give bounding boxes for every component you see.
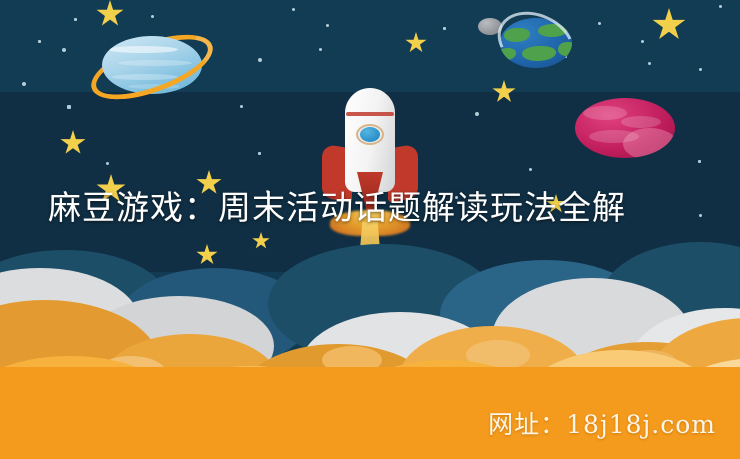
- star-dot: [151, 15, 154, 18]
- star-dot: [292, 8, 295, 11]
- star-dot: [67, 105, 71, 109]
- star-dot: [258, 58, 262, 62]
- star-dot: [641, 40, 644, 43]
- star-dot: [326, 24, 329, 27]
- star-dot: [74, 18, 77, 21]
- star-dot: [22, 82, 26, 86]
- star-dot: [698, 160, 701, 163]
- saturn-planet: [88, 32, 216, 98]
- rocket-stripe: [346, 112, 394, 116]
- star-dot: [62, 48, 66, 52]
- star-dot: [319, 48, 322, 51]
- rocket-porthole-glass: [360, 127, 380, 142]
- magenta-highlight: [623, 128, 675, 158]
- star-dot: [443, 27, 446, 30]
- star-dot: [240, 105, 243, 108]
- star-dot: [648, 62, 651, 65]
- cover-image-canvas: 麻豆游戏：周末活动话题解读玩法全解 网址：18j18j.com: [0, 0, 740, 459]
- star-dot: [529, 168, 532, 171]
- star-dot: [475, 112, 479, 116]
- earth-planet: [500, 18, 572, 68]
- star-dot: [106, 162, 109, 165]
- star-dot: [258, 152, 261, 155]
- site-watermark: 网址：18j18j.com: [488, 405, 716, 441]
- star-dot: [598, 22, 601, 25]
- star-dot: [699, 68, 702, 71]
- cover-title: 麻豆游戏：周末活动话题解读玩法全解: [0, 183, 740, 233]
- star-dot: [38, 40, 41, 43]
- star-dot: [719, 5, 722, 8]
- magenta-planet: [575, 98, 675, 158]
